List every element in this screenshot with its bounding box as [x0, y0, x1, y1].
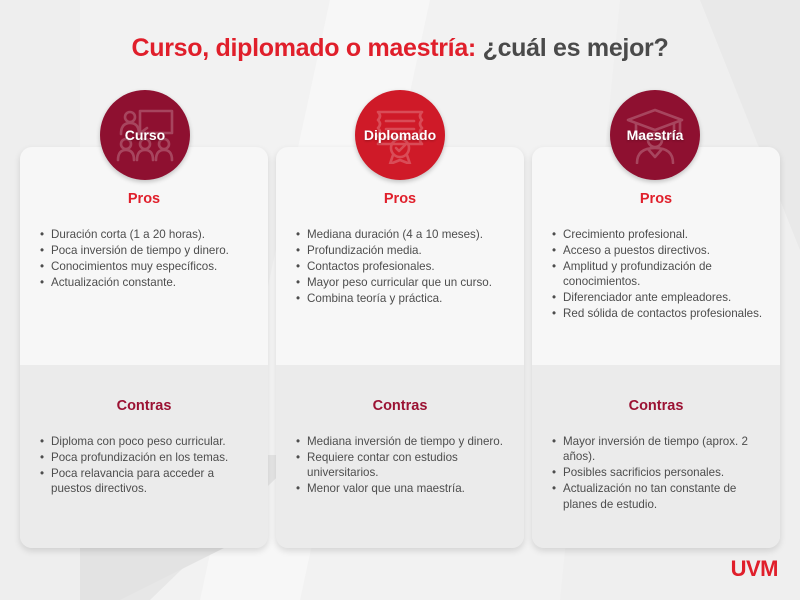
contras-section-curso: Contras Diploma con poco peso curricular…	[20, 365, 268, 548]
contras-heading: Contras	[276, 398, 524, 414]
badge-label: Curso	[125, 127, 165, 143]
list-item: Diploma con poco peso curricular.	[40, 434, 254, 449]
pros-heading: Pros	[532, 191, 780, 207]
list-item: Mediana duración (4 a 10 meses).	[296, 227, 510, 242]
badge-diplomado[interactable]: Diplomado	[355, 90, 445, 180]
list-item: Profundización media.	[296, 243, 510, 258]
contras-list-diplomado: Mediana inversión de tiempo y dinero. Re…	[276, 434, 524, 497]
list-item: Conocimientos muy específicos.	[40, 259, 254, 274]
pros-heading: Pros	[276, 191, 524, 207]
pros-list-diplomado: Mediana duración (4 a 10 meses). Profund…	[276, 227, 524, 306]
contras-section-maestria: Contras Mayor inversión de tiempo (aprox…	[532, 365, 780, 548]
comparison-cards: Pros Duración corta (1 a 20 horas). Poca…	[20, 147, 780, 548]
badge-curso[interactable]: Curso	[100, 90, 190, 180]
page-title-red: Curso, diplomado o maestría:	[132, 34, 476, 62]
contras-heading: Contras	[532, 398, 780, 414]
list-item: Mediana inversión de tiempo y dinero.	[296, 434, 510, 449]
uvm-logo: UVM	[731, 556, 778, 582]
contras-heading: Contras	[20, 398, 268, 414]
list-item: Poca profundización en los temas.	[40, 450, 254, 465]
list-item: Poca inversión de tiempo y dinero.	[40, 243, 254, 258]
list-item: Amplitud y profundización de conocimient…	[552, 259, 766, 290]
contras-list-maestria: Mayor inversión de tiempo (aprox. 2 años…	[532, 434, 780, 512]
card-diplomado: Pros Mediana duración (4 a 10 meses). Pr…	[276, 147, 524, 548]
badge-maestria[interactable]: Maestría	[610, 90, 700, 180]
list-item: Diferenciador ante empleadores.	[552, 290, 766, 305]
list-item: Contactos profesionales.	[296, 259, 510, 274]
list-item: Crecimiento profesional.	[552, 227, 766, 242]
page-title-dark: ¿cuál es mejor?	[483, 34, 669, 62]
badge-label: Diplomado	[364, 127, 436, 143]
pros-list-maestria: Crecimiento profesional. Acceso a puesto…	[532, 227, 780, 321]
pros-heading: Pros	[20, 191, 268, 207]
contras-section-diplomado: Contras Mediana inversión de tiempo y di…	[276, 365, 524, 548]
list-item: Mayor peso curricular que un curso.	[296, 275, 510, 290]
list-item: Menor valor que una maestría.	[296, 481, 510, 496]
pros-list-curso: Duración corta (1 a 20 horas). Poca inve…	[20, 227, 268, 290]
card-curso: Pros Duración corta (1 a 20 horas). Poca…	[20, 147, 268, 548]
list-item: Mayor inversión de tiempo (aprox. 2 años…	[552, 434, 766, 465]
badge-label: Maestría	[627, 127, 684, 143]
list-item: Duración corta (1 a 20 horas).	[40, 227, 254, 242]
list-item: Posibles sacrificios personales.	[552, 465, 766, 480]
list-item: Acceso a puestos directivos.	[552, 243, 766, 258]
list-item: Actualización constante.	[40, 275, 254, 290]
list-item: Requiere contar con estudios universitar…	[296, 450, 510, 481]
list-item: Combina teoría y práctica.	[296, 291, 510, 306]
contras-list-curso: Diploma con poco peso curricular. Poca p…	[20, 434, 268, 497]
card-maestria: Pros Crecimiento profesional. Acceso a p…	[532, 147, 780, 548]
page-title: Curso, diplomado o maestría: ¿cuál es me…	[0, 34, 800, 63]
list-item: Actualización no tan constante de planes…	[552, 481, 766, 512]
list-item: Red sólida de contactos profesionales.	[552, 306, 766, 321]
list-item: Poca relavancia para acceder a puestos d…	[40, 466, 254, 497]
